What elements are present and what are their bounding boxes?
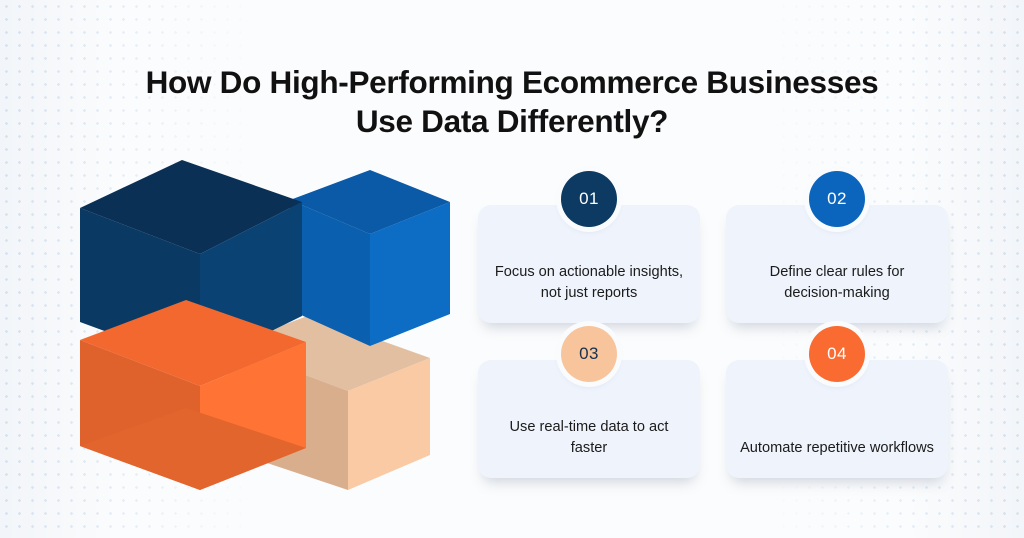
badge-03-number: 03: [579, 344, 599, 364]
card-03[interactable]: 03 Use real-time data to act faster: [478, 360, 700, 478]
card-04[interactable]: 04 Automate repetitive workflows: [726, 360, 948, 478]
cards-grid: 01 Focus on actionable insights, not jus…: [478, 205, 948, 510]
card-03-text: Use real-time data to act faster: [478, 417, 700, 459]
badge-03: 03: [561, 326, 617, 382]
page-title-line-2: Use Data Differently?: [0, 102, 1024, 141]
page-title: How Do High-Performing Ecommerce Busines…: [0, 63, 1024, 141]
badge-01: 01: [561, 171, 617, 227]
infographic-canvas: How Do High-Performing Ecommerce Busines…: [0, 0, 1024, 538]
card-02[interactable]: 02 Define clear rules for decision-makin…: [726, 205, 948, 323]
cube-blue-icon: [290, 170, 450, 346]
card-04-text: Automate repetitive workflows: [726, 438, 948, 459]
badge-02: 02: [809, 171, 865, 227]
badge-02-number: 02: [827, 189, 847, 209]
isometric-cubes-illustration: [78, 150, 458, 510]
badge-04: 04: [809, 326, 865, 382]
card-01[interactable]: 01 Focus on actionable insights, not jus…: [478, 205, 700, 323]
badge-04-number: 04: [827, 344, 847, 364]
card-02-text: Define clear rules for decision-making: [726, 262, 948, 304]
card-01-text: Focus on actionable insights, not just r…: [478, 262, 700, 304]
badge-01-number: 01: [579, 189, 599, 209]
page-title-line-1: How Do High-Performing Ecommerce Busines…: [0, 63, 1024, 102]
